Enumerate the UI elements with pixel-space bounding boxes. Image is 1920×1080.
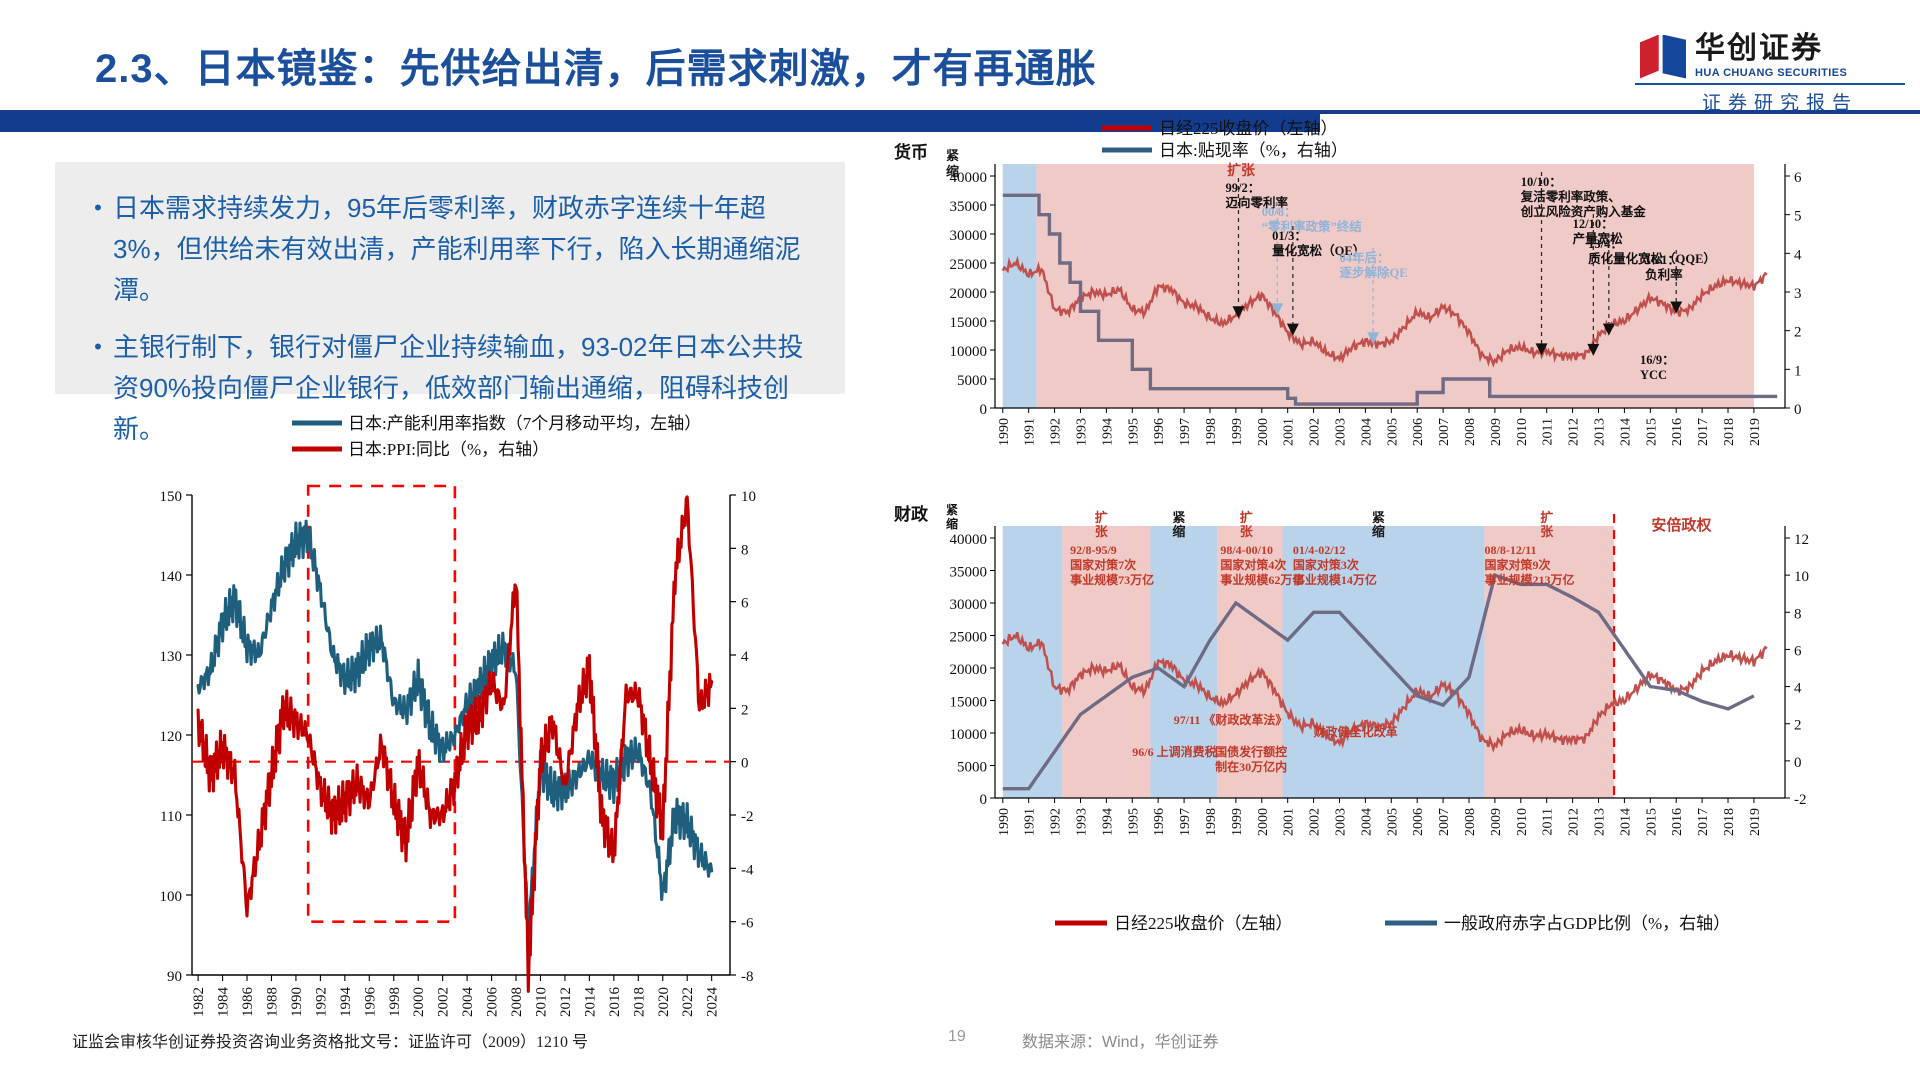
chart-fiscal: 财政紧缩扩张紧缩扩张紧缩扩张安倍政权0500010000150002000025… [880, 478, 1890, 1023]
highlight-box [308, 486, 455, 922]
x-tick-label: 2018 [1722, 808, 1737, 836]
x-tick-label: 2002 [1308, 808, 1323, 836]
chart-annotation: 制在30万亿内 [1215, 759, 1287, 774]
x-tick-label: 2000 [1256, 418, 1271, 446]
x-tick-label: 2004 [1359, 418, 1374, 446]
x-tick-label: 1995 [1126, 418, 1141, 446]
chart-annotation: 国债发行额控 [1215, 744, 1287, 759]
x-tick-label: 1996 [362, 987, 378, 1018]
y-tick-label-right: 2 [1794, 718, 1802, 734]
chart-capacity-ppi-svg: 日本:产能利用率指数（7个月移动平均，左轴）日本:PPI:同比（%，右轴）901… [120, 405, 820, 1030]
y-tick-label-left: 10000 [950, 727, 988, 743]
x-tick-label: 1988 [264, 987, 280, 1017]
summary-textbox: • 日本需求持续发力，95年后零利率，财政赤字连续十年超3%，但供给未有效出清，… [55, 162, 845, 394]
y-tick-label-left: 5000 [957, 760, 987, 776]
x-tick-label: 2003 [1333, 808, 1348, 836]
x-tick-label: 1993 [1074, 808, 1089, 836]
chart-annotation: 01/4-02/12 [1293, 543, 1346, 557]
y-tick-label-left: 110 [160, 809, 182, 825]
x-tick-label: 1982 [191, 987, 207, 1017]
y-tick-label-right: 6 [1794, 170, 1802, 186]
header-subtitle: 证券研究报告 [1660, 88, 1900, 115]
chart-annotation: 16/1： [1645, 253, 1680, 267]
x-tick-label: 2010 [1515, 808, 1530, 836]
phase-label: 缩 [1172, 524, 1185, 539]
x-tick-label: 2011 [1541, 808, 1556, 835]
x-tick-label: 1998 [1204, 418, 1219, 446]
x-tick-label: 2019 [1748, 808, 1763, 836]
x-tick-label: 2012 [1567, 808, 1582, 836]
phase-label: 缩 [1372, 524, 1385, 539]
bullet-text: 日本需求持续发力，95年后零利率，财政赤字连续十年超3%，但供给未有效出清，产能… [113, 188, 828, 311]
phase-label: 扩张 [1227, 162, 1256, 179]
x-tick-label: 1992 [313, 987, 329, 1017]
y-tick-label-right: 3 [1794, 286, 1802, 302]
chart-annotation: 事业规模213万亿 [1485, 572, 1575, 587]
legend-label: 日本:产能利用率指数（7个月移动平均，左轴） [348, 414, 701, 433]
y-tick-label-right: 0 [1794, 402, 1802, 418]
chart-annotation: 96/6 上调消费税 [1132, 744, 1216, 759]
chart-annotation: 事业规模73万亿 [1070, 572, 1154, 587]
chart-capacity-ppi: 日本:产能利用率指数（7个月移动平均，左轴）日本:PPI:同比（%，右轴）901… [120, 405, 820, 1030]
chart-legend: 日本:产能利用率指数（7个月移动平均，左轴）日本:PPI:同比（%，右轴） [292, 414, 701, 459]
x-tick-label: 2014 [1618, 418, 1633, 446]
chart-annotation: 国家对策3次 [1293, 557, 1359, 572]
phase-label: 紧 [946, 502, 958, 517]
x-tick-label: 2020 [656, 987, 672, 1017]
y-tick-label-right: 4 [1794, 247, 1802, 263]
x-tick-label: 2008 [1463, 808, 1478, 836]
x-tick-label: 2004 [460, 987, 476, 1018]
x-tick-label: 2015 [1644, 418, 1659, 446]
logo-mark-icon [1640, 35, 1686, 79]
x-tick-label: 1999 [1230, 418, 1245, 446]
phase-band [1003, 526, 1063, 798]
y-tick-label-left: 20000 [950, 286, 988, 302]
x-tick-label: 2006 [1411, 418, 1426, 446]
phase-band [1003, 164, 1037, 408]
y-tick-label-right: 1 [1794, 363, 1802, 379]
x-tick-label: 1984 [216, 987, 232, 1018]
legend-label: 日本:贴现率（%，右轴） [1159, 141, 1348, 160]
phase-label: 紧 [946, 148, 959, 163]
x-tick-label: 2010 [1515, 418, 1530, 446]
x-tick-label: 2022 [680, 987, 696, 1017]
chart-annotation: 国家对策7次 [1070, 557, 1136, 572]
x-tick-label: 2015 [1644, 808, 1659, 836]
x-tick-label: 1992 [1049, 418, 1064, 446]
x-tick-label: 2007 [1437, 418, 1452, 446]
legend-label: 日本:PPI:同比（%，右轴） [348, 440, 549, 459]
chart-annotation: 国家对策4次 [1220, 557, 1286, 572]
brand-logo: 华创证券 HUA CHUANG SECURITIES [1640, 34, 1847, 79]
x-tick-label: 2017 [1696, 808, 1711, 836]
phase-label: 扩 [1240, 510, 1253, 525]
y-tick-label-right: -6 [741, 916, 754, 932]
x-tick-label: 2014 [1618, 808, 1633, 836]
chart-annotation: 04年后： [1339, 250, 1389, 265]
x-tick-label: 1990 [997, 418, 1012, 446]
footer-source: 数据来源：Wind，华创证券 [1022, 1028, 1218, 1052]
x-tick-label: 1999 [1230, 808, 1245, 836]
x-tick-label: 2016 [1670, 418, 1685, 446]
brand-name-en: HUA CHUANG SECURITIES [1695, 67, 1847, 79]
chart-annotation: 负利率 [1645, 267, 1683, 282]
x-tick-label: 2017 [1696, 418, 1711, 446]
x-tick-label: 1992 [1049, 808, 1064, 836]
x-tick-label: 2016 [1670, 808, 1685, 836]
x-tick-label: 1993 [1074, 418, 1089, 446]
phase-label: 扩 [1095, 510, 1108, 525]
x-tick-label: 1998 [1204, 808, 1219, 836]
x-tick-label: 1994 [1100, 808, 1115, 836]
x-tick-label: 1998 [387, 987, 403, 1017]
y-tick-label-left: 15000 [950, 695, 988, 711]
x-tick-label: 1996 [1152, 808, 1167, 836]
y-tick-label-left: 5000 [957, 373, 987, 389]
slide-root: 2.3、日本镜鉴：先供给出清，后需求刺激，才有再通胀 华创证券 HUA CHUA… [0, 0, 1920, 1080]
y-tick-label-right: 8 [1794, 606, 1802, 622]
x-tick-label: 2012 [1567, 418, 1582, 446]
y-tick-label-right: 5 [1794, 209, 1802, 225]
bullet-marker-icon: • [83, 188, 113, 311]
x-tick-label: 2009 [1489, 418, 1504, 446]
x-tick-label: 2013 [1593, 808, 1608, 836]
x-tick-label: 1997 [1178, 418, 1193, 446]
y-tick-label-left: 100 [160, 889, 183, 905]
phase-label: 张 [1095, 524, 1109, 539]
y-tick-label-left: 150 [160, 489, 183, 505]
x-tick-label: 2003 [1333, 418, 1348, 446]
chart-annotation: 13/4： [1588, 237, 1623, 251]
x-tick-label: 1991 [1023, 808, 1038, 836]
page-number: 19 [948, 1028, 966, 1046]
x-tick-label: 2001 [1282, 808, 1297, 836]
y-tick-label-right: 4 [741, 649, 749, 665]
y-tick-label-right: -8 [741, 969, 754, 985]
x-tick-label: 2008 [509, 987, 525, 1017]
page-title: 2.3、日本镜鉴：先供给出清，后需求刺激，才有再通胀 [95, 36, 1097, 94]
chart-corner-label: 财政 [893, 504, 929, 524]
x-tick-label: 2000 [1256, 808, 1271, 836]
y-tick-label-right: 2 [1794, 325, 1802, 341]
x-tick-label: 2005 [1385, 808, 1400, 836]
chart-annotation: YCC [1640, 368, 1667, 382]
phase-label: 张 [1540, 524, 1554, 539]
y-tick-label-right: -4 [741, 862, 754, 878]
phase-label-abe: 安倍政权 [1651, 516, 1712, 534]
legend-label: 日经225收盘价（左轴） [1159, 119, 1338, 138]
y-tick-label-right: 0 [741, 756, 749, 772]
y-tick-label-left: 40000 [950, 170, 988, 186]
phase-label: 扩 [1540, 510, 1553, 525]
chart-legend: 日经225收盘价（左轴）日本:贴现率（%，右轴） [1102, 119, 1348, 160]
chart-legend: 日经225收盘价（左轴）一般政府赤字占GDP比例（%，右轴） [1055, 914, 1730, 933]
y-tick-label-left: 35000 [950, 199, 988, 215]
legend-label: 一般政府赤字占GDP比例（%，右轴） [1444, 914, 1730, 933]
x-tick-label: 2006 [485, 987, 501, 1018]
chart-annotation: 事业规模62万亿 [1220, 572, 1304, 587]
y-tick-label-left: 20000 [950, 662, 988, 678]
y-tick-label-left: 30000 [950, 228, 988, 244]
chart-annotation: 98/4-00/10 [1220, 543, 1273, 557]
list-item: • 日本需求持续发力，95年后零利率，财政赤字连续十年超3%，但供给未有效出清，… [83, 188, 828, 311]
x-tick-label: 2000 [411, 987, 427, 1017]
chart-monetary: 日经225收盘价（左轴）日本:贴现率（%，右轴）货币紧缩扩张0500010000… [880, 118, 1890, 498]
y-tick-label-left: 10000 [950, 344, 988, 360]
y-tick-label-left: 0 [980, 792, 988, 808]
chart-annotation: 财政健全化改革 [1313, 724, 1398, 739]
y-tick-label-left: 90 [167, 969, 182, 985]
chart-annotation: 99/2： [1226, 181, 1261, 195]
phase-label: 紧 [1172, 510, 1185, 525]
x-tick-label: 1994 [1100, 418, 1115, 446]
x-tick-label: 2024 [705, 987, 721, 1018]
y-tick-label-left: 40000 [950, 532, 988, 548]
x-tick-label: 2013 [1593, 418, 1608, 446]
chart-annotation: 00/8： [1262, 205, 1297, 219]
chart-annotation: 复活零利率政策、 [1520, 189, 1621, 204]
chart-annotation: 事业规模14万亿 [1293, 572, 1377, 587]
x-tick-label: 2018 [631, 987, 647, 1017]
chart-annotation: 92/8-95/9 [1070, 543, 1117, 557]
x-tick-label: 2002 [1308, 418, 1323, 446]
x-tick-label: 2010 [533, 987, 549, 1017]
phase-label: 紧 [1372, 510, 1385, 525]
chart-monetary-svg: 日经225收盘价（左轴）日本:贴现率（%，右轴）货币紧缩扩张0500010000… [880, 118, 1890, 498]
x-tick-label: 2008 [1463, 418, 1478, 446]
y-tick-label-right: 6 [741, 596, 749, 612]
x-tick-label: 1986 [240, 987, 256, 1018]
y-tick-label-left: 25000 [950, 257, 988, 273]
chart-annotation: 16/9： [1640, 353, 1675, 367]
x-tick-label: 2014 [582, 987, 598, 1018]
x-tick-label: 1990 [289, 987, 305, 1017]
chart-annotation: 08/8-12/11 [1485, 543, 1537, 557]
y-tick-label-right: 12 [1794, 532, 1809, 548]
phase-label: 缩 [946, 516, 958, 531]
x-tick-label: 2019 [1748, 418, 1763, 446]
y-tick-label-left: 15000 [950, 315, 988, 331]
x-tick-label: 2009 [1489, 808, 1504, 836]
bullet-marker-icon: • [83, 327, 113, 450]
y-tick-label-left: 0 [980, 402, 988, 418]
x-tick-label: 1990 [997, 808, 1012, 836]
phase-label: 张 [1240, 524, 1254, 539]
y-tick-label-right: -2 [1794, 792, 1807, 808]
y-tick-label-right: 10 [1794, 569, 1809, 585]
x-tick-label: 1996 [1152, 418, 1167, 446]
x-tick-label: 1997 [1178, 808, 1193, 836]
chart-corner-label: 货币 [894, 142, 928, 162]
x-tick-label: 2018 [1722, 418, 1737, 446]
chart-annotation: 国家对策9次 [1485, 557, 1551, 572]
footer-disclaimer: 证监会审核华创证券投资咨询业务资格批文号：证监许可（2009）1210 号 [72, 1028, 588, 1052]
x-tick-label: 2002 [436, 987, 452, 1017]
x-tick-label: 2005 [1385, 418, 1400, 446]
y-tick-label-left: 130 [160, 649, 183, 665]
legend-label: 日经225收盘价（左轴） [1114, 914, 1293, 933]
x-tick-label: 2007 [1437, 808, 1452, 836]
x-tick-label: 1991 [1023, 418, 1038, 446]
chart-annotation: 01/3： [1272, 229, 1307, 243]
y-tick-label-right: -2 [741, 809, 754, 825]
y-tick-label-right: 10 [741, 489, 756, 505]
x-tick-label: 2006 [1411, 808, 1426, 836]
x-tick-label: 1994 [338, 987, 354, 1018]
x-tick-label: 2004 [1359, 808, 1374, 836]
y-tick-label-left: 30000 [950, 597, 988, 613]
x-tick-label: 2001 [1282, 418, 1297, 446]
y-tick-label-left: 25000 [950, 630, 988, 646]
x-tick-label: 1995 [1126, 808, 1141, 836]
y-tick-label-right: 8 [741, 542, 749, 558]
y-tick-label-right: 6 [1794, 643, 1802, 659]
y-tick-label-left: 120 [160, 729, 183, 745]
chart-annotation: 97/11 《财政改革法》 [1174, 712, 1288, 727]
brand-name-cn: 华创证券 [1695, 34, 1847, 64]
y-tick-label-right: 0 [1794, 755, 1802, 771]
header-subtitle-rule [1635, 83, 1905, 85]
x-tick-label: 2016 [607, 987, 623, 1018]
y-tick-label-right: 2 [741, 702, 749, 718]
y-tick-label-left: 35000 [950, 565, 988, 581]
y-tick-label-right: 4 [1794, 681, 1802, 697]
x-tick-label: 2011 [1541, 418, 1556, 445]
chart-fiscal-svg: 财政紧缩扩张紧缩扩张紧缩扩张安倍政权0500010000150002000025… [880, 478, 1890, 1023]
y-tick-label-left: 140 [160, 569, 183, 585]
x-tick-label: 2012 [558, 987, 574, 1017]
